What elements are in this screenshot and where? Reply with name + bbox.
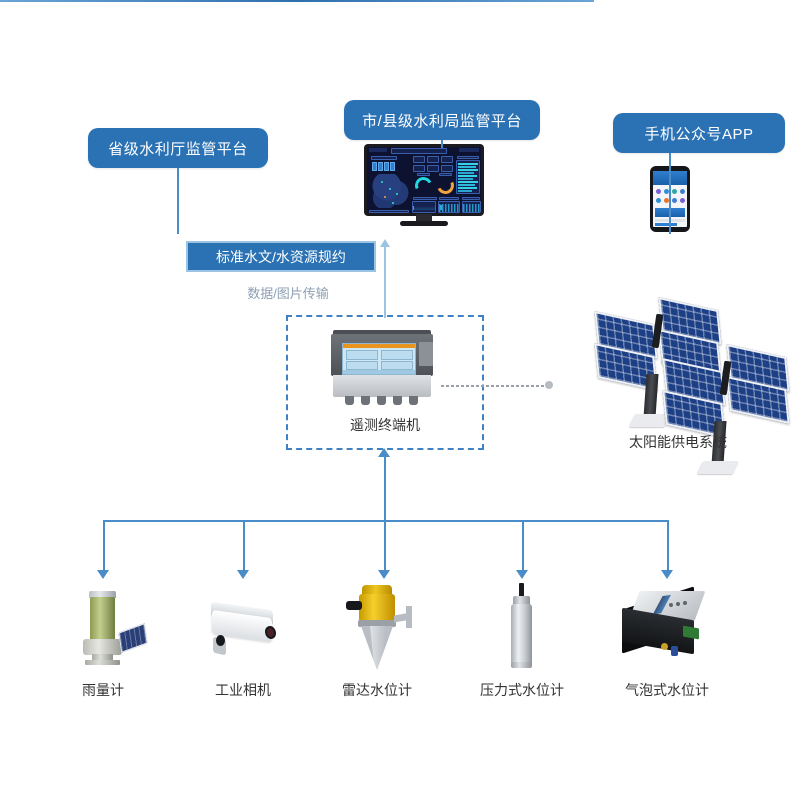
pressure-level-label: 压力式水位计	[457, 680, 587, 700]
pressure-arrow	[516, 570, 528, 579]
rain-gauge-arrow	[97, 570, 109, 579]
rtu-label: 遥测终端机	[286, 415, 484, 435]
provincial-platform-button[interactable]: 省级水利厅监管平台	[88, 128, 268, 168]
monitoring-dashboard-screen	[364, 144, 484, 228]
pressure-branch-line	[522, 520, 524, 572]
bubbler-branch-line	[667, 520, 669, 572]
radar-branch-line	[384, 520, 386, 572]
rtu-screen	[342, 343, 416, 375]
mobile-app-platform-label: 手机公众号APP	[644, 123, 753, 144]
rtu-uplink-line	[384, 246, 386, 318]
protocol-label-box: 标准水文/水资源规约	[186, 241, 376, 272]
provincial-platform-drop-line	[177, 168, 179, 234]
provincial-platform-label: 省级水利厅监管平台	[108, 138, 248, 159]
camera-arrow	[237, 570, 249, 579]
city-platform-button[interactable]: 市/县级水利局监管平台	[344, 100, 540, 140]
radar-arrow	[378, 570, 390, 579]
sensor-bus-line	[103, 520, 669, 522]
city-platform-drop-line	[441, 140, 443, 148]
protocol-label: 标准水文/水资源规约	[216, 247, 346, 267]
solar-power-label: 太阳能供电系统	[583, 432, 773, 452]
rtu-device-icon	[331, 330, 439, 408]
rtu-antenna	[441, 385, 548, 387]
sensor-bus-uplink-arrow	[378, 448, 390, 457]
monitor-stand-base	[400, 221, 448, 226]
rtu-antenna-tip	[545, 381, 553, 389]
radar-level-label: 雷达水位计	[312, 680, 442, 700]
rain-gauge-branch-line	[103, 520, 105, 572]
architecture-diagram: 省级水利厅监管平台 市/县级水利局监管平台 手机公众号APP	[0, 0, 800, 800]
mobile-app-drop-line	[669, 153, 671, 234]
monitor-bezel	[364, 144, 484, 216]
rain-gauge-label: 雨量计	[38, 680, 168, 700]
camera-label: 工业相机	[178, 680, 308, 700]
camera-branch-line	[243, 520, 245, 572]
bubbler-arrow	[661, 570, 673, 579]
mobile-app-platform-button[interactable]: 手机公众号APP	[613, 113, 785, 153]
monitor-screen	[367, 147, 481, 213]
rtu-uplink-arrow	[380, 239, 390, 247]
rtu-to-sensor-bus-line	[384, 455, 386, 520]
bubbler-level-label: 气泡式水位计	[602, 680, 732, 700]
protocol-sublabel: 数据/图片传输	[228, 283, 348, 302]
platform-bus-line	[0, 0, 594, 2]
city-platform-label: 市/县级水利局监管平台	[362, 110, 522, 131]
